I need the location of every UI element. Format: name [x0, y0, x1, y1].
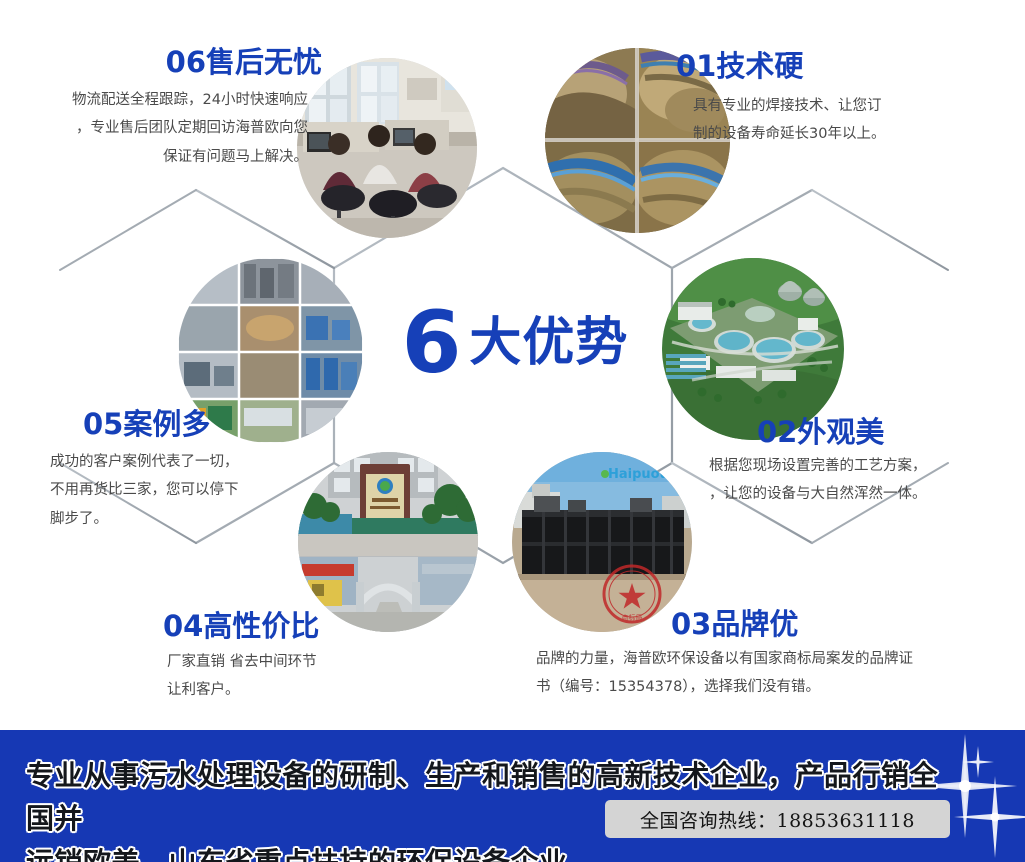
black-tank-equipment-photo: Haipuou 商标局 [512, 452, 692, 632]
item-desc-01-line2: 制的设备寿命延长30年以上。 [693, 120, 993, 148]
item-desc-06-line2: ，专业售后团队定期回访海普欧向您 [0, 114, 308, 142]
photo-circle-03: Haipuou 商标局 [512, 452, 692, 632]
office-staff-photo [297, 58, 477, 238]
center-title: 6 大优势 [390, 288, 640, 398]
photo-circle-06 [297, 58, 477, 238]
svg-text:Haipuou: Haipuou [608, 467, 669, 482]
item-title-01: 01技术硬 [676, 52, 803, 81]
hotline-box[interactable]: 全国咨询热线：18853631118 [605, 800, 950, 838]
item-desc-03-line1: 品牌的力量，海普欧环保设备以有国家商标局案发的品牌证 [536, 645, 1025, 673]
item-desc-03-line2: 书（编号：15354378），选择我们没有错。 [536, 673, 1025, 701]
banner-line-2: 远销欧美，山东省重点扶持的环保设备企业。 [26, 841, 966, 862]
center-word: 大优势 [469, 317, 628, 369]
item-title-03: 03品牌优 [671, 610, 798, 639]
photo-circle-02 [662, 258, 844, 440]
item-desc-02-line2: ，让您的设备与大自然浑然一体。 [709, 480, 1025, 508]
item-title-05: 05案例多 [83, 410, 210, 439]
item-desc-04: 厂家直销 省去中间环节 让利客户。 [167, 648, 467, 705]
item-desc-05: 成功的客户案例代表了一切， 不用再货比三家，您可以停下 脚步了。 [50, 448, 330, 533]
item-desc-05-line3: 脚步了。 [50, 505, 330, 533]
infographic-page: 6 大优势 [0, 0, 1025, 862]
item-title-06: 06售后无忧 [0, 48, 322, 77]
center-number: 6 [402, 300, 460, 386]
item-desc-05-line2: 不用再货比三家，您可以停下 [50, 476, 330, 504]
item-desc-02-line1: 根据您现场设置完善的工艺方案， [709, 452, 1025, 480]
item-desc-01-line1: 具有专业的焊接技术、让您订 [693, 92, 993, 120]
item-desc-06-line1: 物流配送全程跟踪，24小时快速响应 [0, 86, 308, 114]
brand-watermark: Haipuou [601, 467, 669, 482]
item-desc-04-line1: 厂家直销 省去中间环节 [167, 648, 467, 676]
item-desc-02: 根据您现场设置完善的工艺方案， ，让您的设备与大自然浑然一体。 [709, 452, 1025, 509]
item-desc-01: 具有专业的焊接技术、让您订 制的设备寿命延长30年以上。 [693, 92, 993, 149]
item-desc-06: 物流配送全程跟踪，24小时快速响应 ，专业售后团队定期回访海普欧向您 保证有问题… [0, 86, 308, 171]
item-desc-03: 品牌的力量，海普欧环保设备以有国家商标局案发的品牌证 书（编号：15354378… [536, 645, 1025, 702]
svg-text:商标局: 商标局 [622, 613, 643, 622]
item-desc-05-line1: 成功的客户案例代表了一切， [50, 448, 330, 476]
item-title-02: 02外观美 [757, 418, 884, 447]
hotline-text: 全国咨询热线：18853631118 [640, 806, 915, 833]
aerial-treatment-plant-photo [662, 258, 844, 440]
item-title-04: 04高性价比 [163, 612, 319, 641]
bottom-banner: 专业从事污水处理设备的研制、生产和销售的高新技术企业，产品行销全国并 远销欧美，… [0, 730, 1025, 862]
item-desc-06-line3: 保证有问题马上解决。 [0, 143, 308, 171]
item-desc-04-line2: 让利客户。 [167, 676, 467, 704]
